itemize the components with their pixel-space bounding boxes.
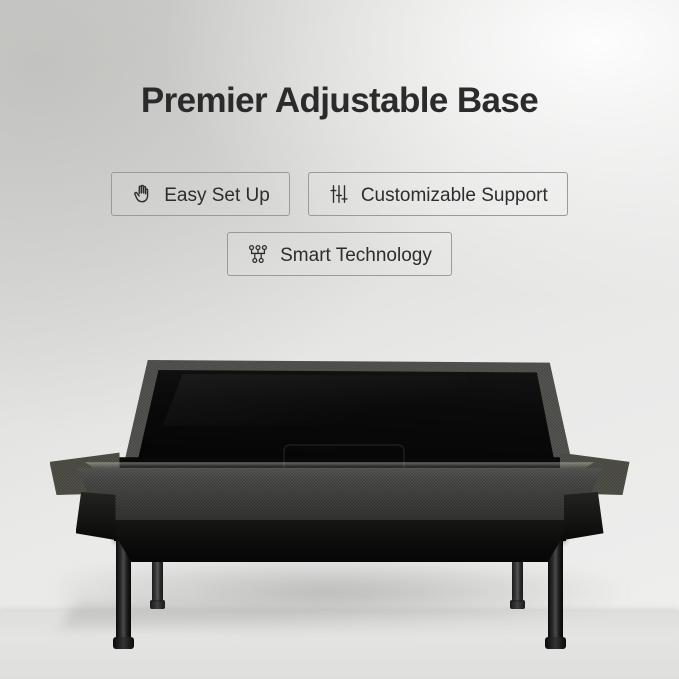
network-nodes-icon xyxy=(247,243,269,265)
front-upholstered-rail xyxy=(64,464,616,526)
feature-pill-label: Smart Technology xyxy=(280,246,432,265)
adjustable-bed-base-image xyxy=(40,352,640,652)
feature-pill-label: Customizable Support xyxy=(361,186,548,205)
base-underside-skirt xyxy=(92,520,588,562)
skirt-corner-right xyxy=(564,492,604,540)
hand-raised-icon xyxy=(131,183,153,205)
feature-pill-easy-set-up[interactable]: Easy Set Up xyxy=(111,172,290,216)
bed-leg-cap xyxy=(545,637,566,649)
bed-leg-cap xyxy=(510,600,525,609)
page-title: Premier Adjustable Base xyxy=(0,80,679,122)
feature-pill-customizable-support[interactable]: Customizable Support xyxy=(308,172,568,216)
product-hero-image: Premier Adjustable Base Easy Set Up xyxy=(0,0,679,679)
deck-highlight xyxy=(150,374,480,426)
sliders-icon xyxy=(328,183,350,205)
feature-pill-row-1: Easy Set Up Customizable Support xyxy=(0,172,679,216)
bed-leg-cap xyxy=(113,637,134,649)
skirt-corner-left xyxy=(76,492,116,540)
feature-pill-label: Easy Set Up xyxy=(164,186,270,205)
feature-pill-smart-technology[interactable]: Smart Technology xyxy=(227,232,452,276)
feature-pill-row-2: Smart Technology xyxy=(0,232,679,276)
bed-leg-cap xyxy=(150,600,165,609)
rail-top-highlight xyxy=(80,462,600,469)
